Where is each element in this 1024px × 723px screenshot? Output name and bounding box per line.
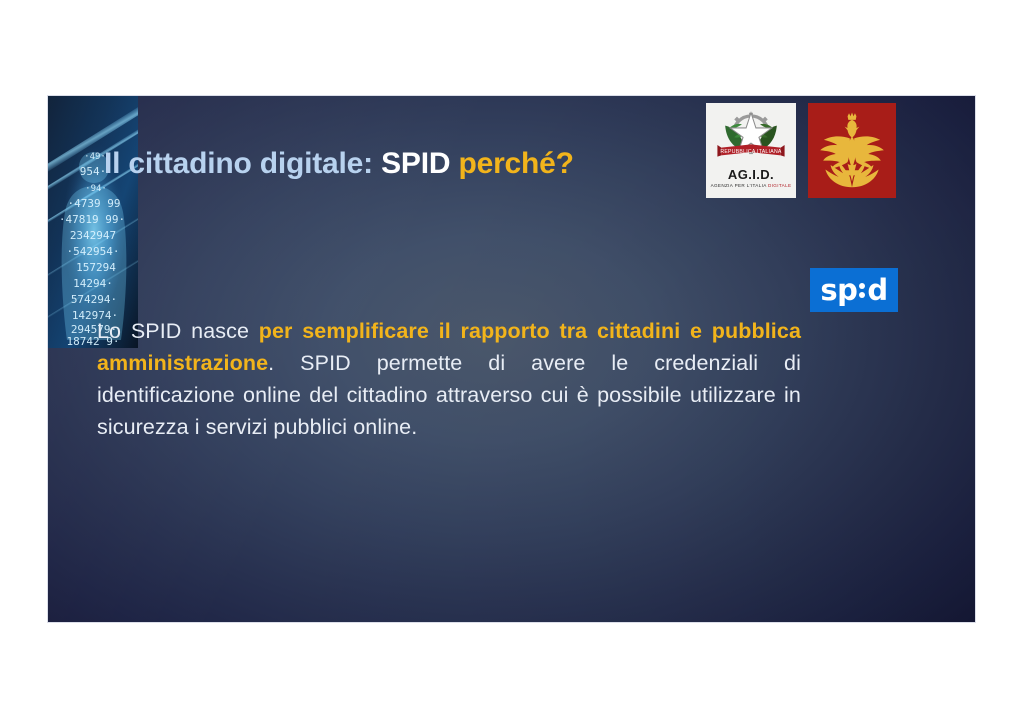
spid-wordmark-end: d [867, 276, 887, 305]
svg-text:574294·: 574294· [71, 293, 117, 306]
eagle-emblem-logo [808, 103, 896, 198]
agid-subtitle-red: DIGITALE [768, 183, 791, 188]
svg-text:·94·: ·94· [85, 184, 107, 194]
svg-text:14294·: 14294· [73, 277, 113, 290]
eagle-icon [815, 110, 889, 192]
svg-text:REPUBBLICA ITALIANA: REPUBBLICA ITALIANA [720, 149, 782, 155]
svg-text:2342947: 2342947 [70, 229, 116, 242]
svg-text:·47819 99·: ·47819 99· [59, 213, 125, 226]
svg-text:·542954·: ·542954· [67, 245, 120, 258]
title-part-primary: Il cittadino digitale: [104, 147, 373, 180]
body-paragraph: Lo SPID nasce per semplificare il rappor… [97, 315, 801, 443]
body-lead-text: Lo SPID nasce [97, 319, 259, 343]
agid-logo-subtitle: AGENZIA PER L'ITALIA DIGITALE [711, 183, 792, 188]
title-part-spid: SPID [381, 147, 450, 180]
italian-republic-emblem-icon: REPUBBLICA ITALIANA [712, 105, 790, 167]
spid-wordmark-start: sp [820, 276, 857, 305]
spid-colon-icon [859, 283, 865, 298]
svg-text:157294: 157294 [76, 261, 116, 274]
svg-text:·49·: ·49· [84, 152, 106, 162]
spid-logo: sp d [810, 268, 898, 312]
agid-subtitle-black: AGENZIA PER L'ITALIA [711, 183, 768, 188]
digital-identity-picture: ·49· 954· ·94· ·4739 99 ·47819 99· 23429… [48, 96, 138, 348]
svg-text:954·: 954· [80, 165, 107, 178]
title-part-highlight: perché? [458, 147, 573, 180]
screenshot-page: Il cittadino digitale: SPID perché? Lo S… [0, 0, 1024, 723]
presentation-slide: Il cittadino digitale: SPID perché? Lo S… [48, 96, 975, 622]
svg-text:·4739 99: ·4739 99 [68, 197, 121, 210]
spid-logo-wordmark: sp d [820, 276, 887, 305]
agid-logo: REPUBBLICA ITALIANA AG.I.D. AGENZIA PER … [706, 103, 796, 198]
page-title: Il cittadino digitale: SPID perché? [104, 147, 574, 181]
agid-logo-name: AG.I.D. [728, 168, 774, 181]
digital-silhouette-icon: ·49· 954· ·94· ·4739 99 ·47819 99· 23429… [48, 96, 138, 348]
